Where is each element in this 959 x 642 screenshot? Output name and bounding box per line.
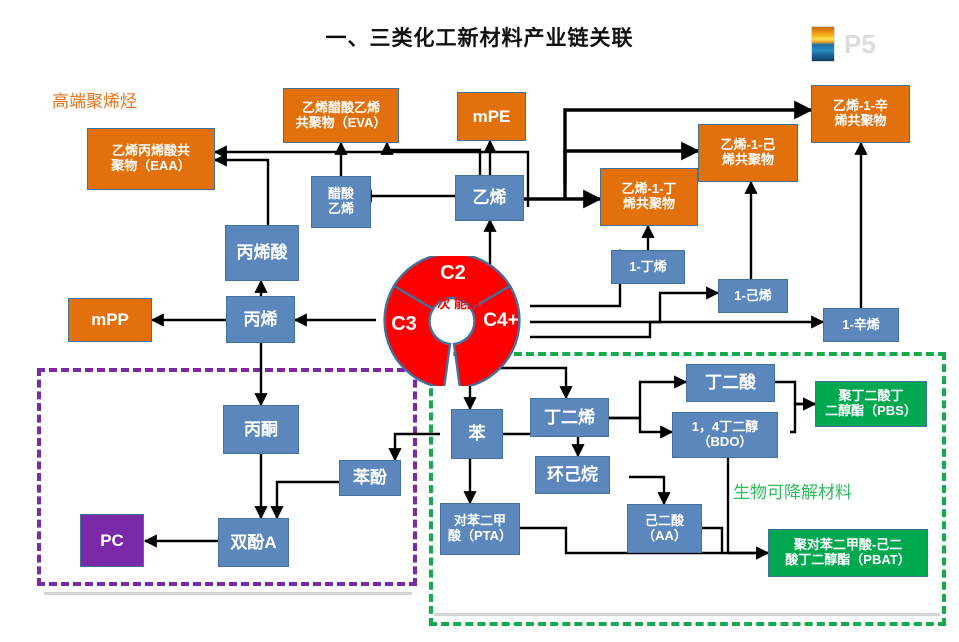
node-acetone[interactable]: 丙酮 bbox=[223, 405, 299, 454]
node-vinyl-acetate[interactable]: 醋酸 乙烯 bbox=[311, 176, 371, 228]
sunset-thumbnail-icon bbox=[811, 26, 835, 62]
hub-segment-c4plus[interactable]: C4+ bbox=[473, 310, 529, 332]
node-pbat[interactable]: 聚对苯二甲酸-己二 酸丁二醇酯（PBAT） bbox=[768, 529, 928, 577]
node-cyclohexane[interactable]: 环己烷 bbox=[535, 456, 610, 494]
node-ethylene[interactable]: 乙烯 bbox=[455, 175, 524, 221]
node-1-octene[interactable]: 1-辛烯 bbox=[823, 308, 899, 342]
divider-left bbox=[44, 592, 412, 595]
hub-center-line1: 一次 bbox=[424, 296, 450, 311]
node-ethylene-1-octene-copolymer[interactable]: 乙烯-1-辛 烯共聚物 bbox=[811, 85, 910, 143]
node-bdo[interactable]: 1，4丁二醇 （BDO） bbox=[672, 412, 778, 458]
hub-center-line2: 能源 bbox=[454, 296, 480, 311]
node-eva[interactable]: 乙烯醋酸乙烯 共聚物（EVA） bbox=[283, 88, 399, 143]
label-high-end-polyolefin: 高端聚烯烃 bbox=[52, 87, 137, 112]
hub-segment-c3[interactable]: C3 bbox=[383, 313, 425, 336]
node-propylene[interactable]: 丙烯 bbox=[226, 296, 295, 343]
node-1-butene[interactable]: 1-丁烯 bbox=[611, 250, 685, 284]
hub-center-label: 一次 能源 bbox=[423, 297, 481, 311]
node-pbs[interactable]: 聚丁二酸丁 二醇酯（PBS） bbox=[815, 381, 927, 427]
node-phenol[interactable]: 苯酚 bbox=[339, 460, 401, 496]
node-1-hexene[interactable]: 1-己烯 bbox=[718, 279, 788, 313]
node-adipic-acid[interactable]: 己二酸 （AA） bbox=[627, 504, 702, 553]
hub-segment-c2[interactable]: C2 bbox=[428, 262, 478, 285]
node-butadiene[interactable]: 丁二烯 bbox=[530, 398, 609, 437]
node-mpe[interactable]: mPE bbox=[457, 92, 526, 141]
node-benzene[interactable]: 苯 bbox=[451, 409, 503, 459]
logo-label: P5 bbox=[844, 31, 876, 57]
p5-logo: P5 bbox=[811, 26, 876, 62]
node-acrylic-acid[interactable]: 丙烯酸 bbox=[225, 225, 299, 281]
node-mpp[interactable]: mPP bbox=[68, 298, 152, 342]
node-bisphenol-a[interactable]: 双酚A bbox=[218, 518, 289, 567]
node-pta[interactable]: 对苯二甲 酸（PTA） bbox=[440, 503, 520, 555]
node-ethylene-1-butene-copolymer[interactable]: 乙烯-1-丁 烯共聚物 bbox=[600, 168, 698, 226]
node-succinic-acid[interactable]: 丁二酸 bbox=[686, 364, 775, 402]
node-pc[interactable]: PC bbox=[80, 514, 144, 567]
node-eaa[interactable]: 乙烯丙烯酸共 聚物（EAA） bbox=[87, 128, 215, 190]
node-ethylene-1-hexene-copolymer[interactable]: 乙烯-1-己 烯共聚物 bbox=[698, 124, 798, 182]
